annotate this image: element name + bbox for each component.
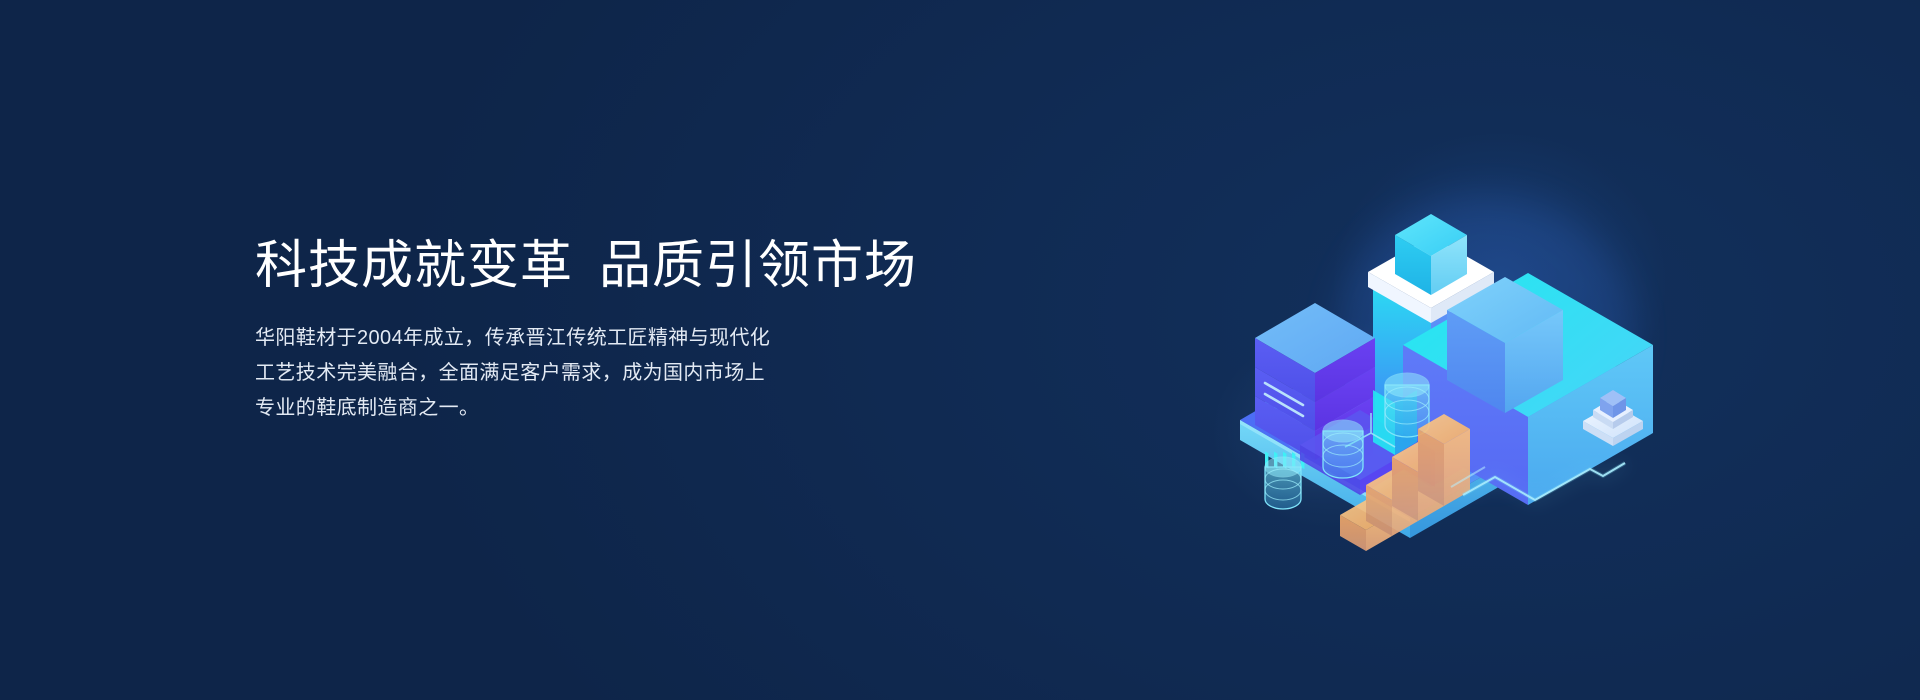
headline-segment-2: 品质引领市场 <box>599 237 917 295</box>
hero-description: 华阳鞋材于2004年成立，传承晋江传统工匠精神与现代化 工艺技术完美融合，全面满… <box>255 321 895 426</box>
bar-4 <box>1418 414 1470 506</box>
description-line-2: 工艺技术完美融合，全面满足客户需求，成为国内市场上 <box>255 356 895 391</box>
hero-copy-block: 科技成就变革品质引领市场 华阳鞋材于2004年成立，传承晋江传统工匠精神与现代化… <box>255 236 975 426</box>
headline-segment-1: 科技成就变革 <box>255 237 573 295</box>
db-cylinder-c <box>1265 457 1301 509</box>
db-cylinder-b <box>1323 420 1363 478</box>
hero-banner: 科技成就变革品质引领市场 华阳鞋材于2004年成立，传承晋江传统工匠精神与现代化… <box>0 0 1920 700</box>
description-line-1: 华阳鞋材于2004年成立，传承晋江传统工匠精神与现代化 <box>255 321 895 356</box>
description-line-3: 专业的鞋底制造商之一。 <box>255 391 895 426</box>
page-title: 科技成就变革品质引领市场 <box>255 236 975 297</box>
isometric-factory-illustration <box>1195 95 1715 565</box>
